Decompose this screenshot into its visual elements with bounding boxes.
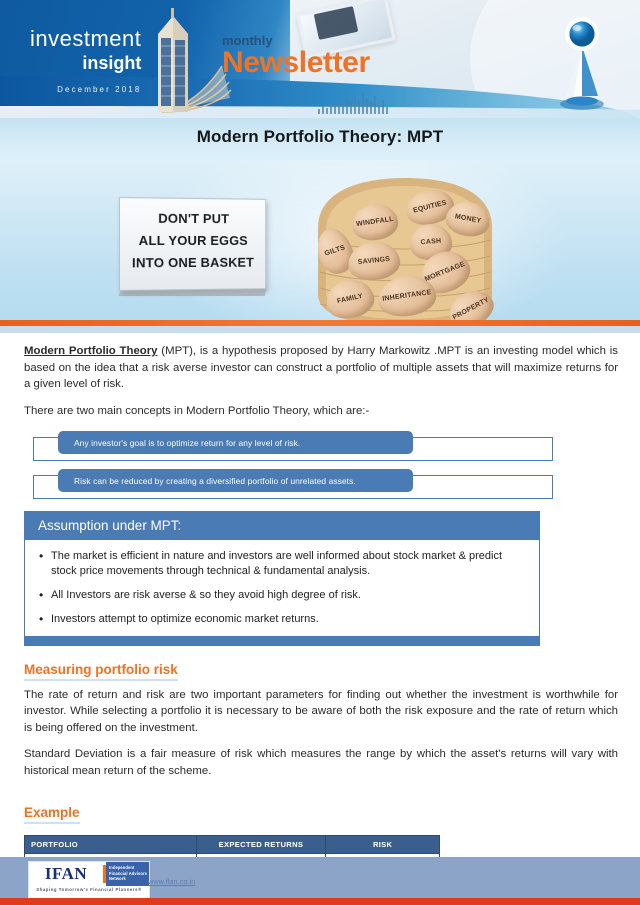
3d-person-mascot-icon [552, 8, 612, 112]
sign-line-3: INTO ONE BASKET [120, 255, 265, 271]
assumption-item: All Investors are risk averse & so they … [39, 588, 525, 603]
brand-block: investment insight December 2018 [30, 28, 141, 94]
sign-line-1: DON'T PUT [120, 210, 265, 226]
measuring-paragraph-1: The rate of return and risk are two impo… [24, 687, 618, 737]
logo-tagline: Shaping Tomorrow's Financial Planners® [29, 886, 149, 892]
example-heading: Example [24, 805, 80, 824]
blue-divider [0, 326, 640, 333]
egg-label: CASH [410, 237, 452, 247]
issue-date: December 2018 [30, 85, 141, 94]
column-header-risk: RISK [326, 836, 440, 854]
page-title: Modern Portfolio Theory: MPT [0, 127, 640, 147]
page-header: investment insight December 2018 [0, 0, 640, 118]
egg-label: FAMILY [326, 291, 374, 308]
concepts-list: Any investor's goal is to optimize retur… [24, 431, 618, 499]
assumption-heading: Assumption under MPT: [24, 511, 540, 540]
concepts-lead: There are two main concepts in Modern Po… [24, 403, 618, 420]
assumption-panel: Assumption under MPT: The market is effi… [24, 511, 540, 645]
bar-chart-icon [318, 92, 388, 114]
assumption-body: The market is efficient in nature and in… [24, 540, 540, 636]
measuring-heading: Measuring portfolio risk [24, 662, 178, 681]
egg-label: GILTS [318, 242, 352, 259]
masthead: monthly Newsletter [222, 34, 370, 79]
table-header-row: PORTFOLIO EXPECTED RETURNS RISK [25, 836, 440, 854]
page-footer: IFAN Independent Financial Advisors Netw… [0, 857, 640, 905]
assumption-item: The market is efficient in nature and in… [39, 549, 525, 579]
logo-wordmark: IFAN [29, 862, 103, 886]
column-header-portfolio: PORTFOLIO [25, 836, 197, 854]
egg-label: WINDFALL [352, 215, 399, 228]
egg-label: INHERITANCE [378, 288, 436, 303]
eggs-basket-sign: DON'T PUT ALL YOUR EGGS INTO ONE BASKET [119, 197, 266, 291]
logo-subtitle: Independent Financial Advisors Network [106, 862, 149, 886]
egg-label: SAVINGS [348, 255, 400, 267]
sign-line-2: ALL YOUR EGGS [120, 233, 265, 248]
website-link[interactable]: www.ifan.co.in [148, 877, 195, 886]
egg-label: PROPERTY [449, 295, 493, 320]
egg-label: MONEY [446, 212, 491, 227]
intro-term: Modern Portfolio Theory [24, 345, 158, 357]
concept-bar: Any investor's goal is to optimize retur… [58, 431, 413, 454]
column-header-expected-returns: EXPECTED RETURNS [196, 836, 326, 854]
ifan-logo: IFAN Independent Financial Advisors Netw… [28, 861, 150, 899]
concept-item: Any investor's goal is to optimize retur… [24, 431, 618, 461]
brand-line-1: investment [30, 28, 141, 50]
article-title-band: Modern Portfolio Theory: MPT [0, 118, 640, 160]
newsletter-page: investment insight December 2018 [0, 0, 640, 905]
measuring-paragraph-2: Standard Deviation is a fair measure of … [24, 746, 618, 779]
concept-label: Risk can be reduced by creating a divers… [58, 476, 356, 486]
intro-paragraph: Modern Portfolio Theory (MPT), is a hypo… [24, 343, 618, 393]
masthead-newsletter: Newsletter [222, 48, 370, 79]
assumption-item: Investors attempt to optimize economic m… [39, 612, 525, 627]
brand-line-2: insight [30, 54, 141, 72]
concept-label: Any investor's goal is to optimize retur… [58, 438, 300, 448]
egg-basket: GILTS WINDFALL EQUITIES MONEY CASH SAVIN… [300, 176, 510, 320]
assumption-list: The market is efficient in nature and in… [39, 549, 525, 626]
concept-item: Risk can be reduced by creating a divers… [24, 469, 618, 499]
assumption-footer-bar [24, 637, 540, 646]
footer-red-bar [0, 898, 640, 905]
concept-bar: Risk can be reduced by creating a divers… [58, 469, 413, 492]
hero-image: DON'T PUT ALL YOUR EGGS INTO ONE BASKET … [0, 160, 640, 320]
skyscraper-icon [140, 8, 206, 112]
article-body: Modern Portfolio Theory (MPT), is a hypo… [0, 333, 640, 888]
